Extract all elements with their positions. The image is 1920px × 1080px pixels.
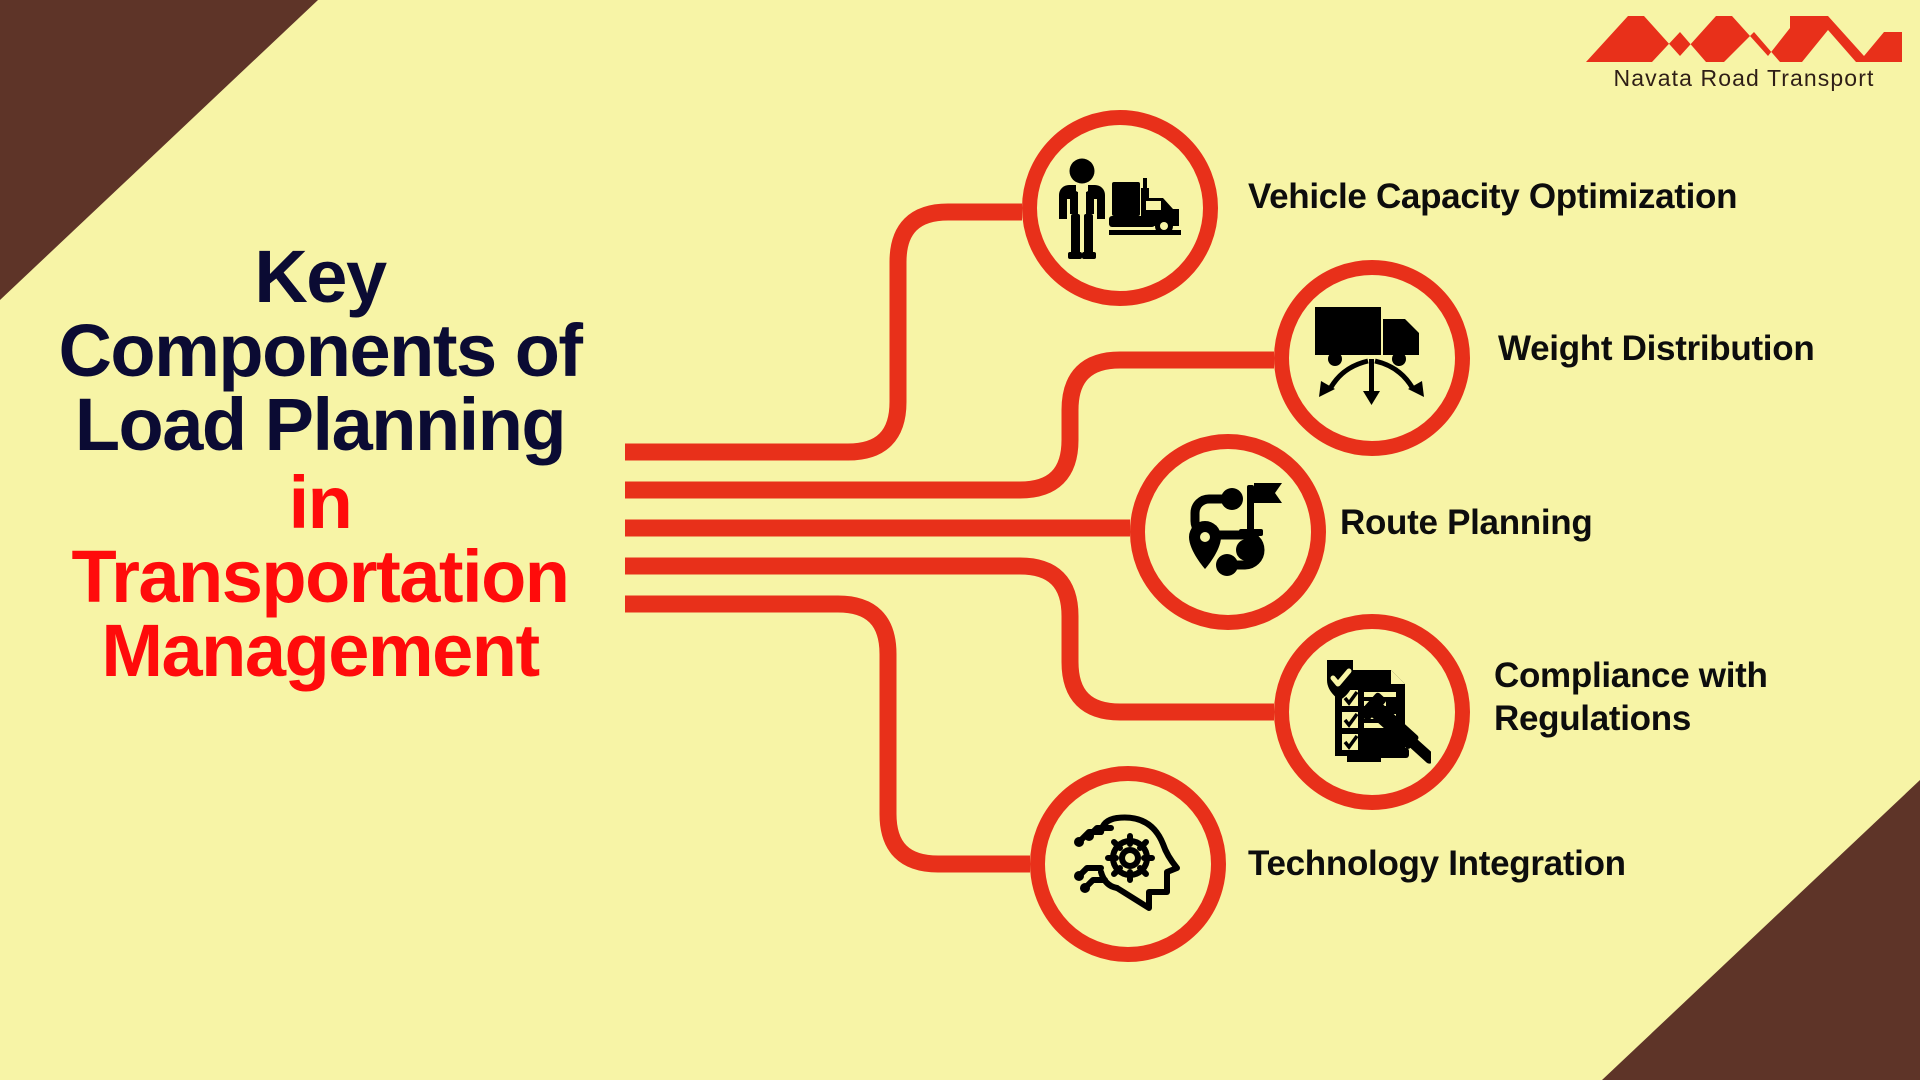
route-map-pin-flag-icon [1169,477,1287,587]
node-technology-integration[interactable] [1030,766,1226,962]
label-vehicle-capacity-optimization: Vehicle Capacity Optimization [1248,176,1737,219]
checklist-shield-gavel-icon [1313,656,1431,768]
worker-and-truck-icon [1057,156,1183,260]
connector-to-vehicle-capacity-optimization [625,212,1022,452]
head-gear-circuit-icon [1067,810,1189,918]
node-weight-distribution[interactable] [1274,260,1470,456]
infographic-canvas: Navata Road Transport Key Components of … [0,0,1920,1080]
connector-lines [0,0,1920,1080]
node-compliance-with-regulations[interactable] [1274,614,1470,810]
node-route-planning[interactable] [1130,434,1326,630]
label-technology-integration: Technology Integration [1248,843,1626,886]
truck-weight-arrows-icon [1311,303,1433,413]
label-route-planning: Route Planning [1340,502,1592,545]
label-weight-distribution: Weight Distribution [1498,328,1814,371]
node-vehicle-capacity-optimization[interactable] [1022,110,1218,306]
connector-to-technology-integration [625,604,1030,864]
label-compliance-with-regulations: Compliance with Regulations [1494,655,1768,740]
